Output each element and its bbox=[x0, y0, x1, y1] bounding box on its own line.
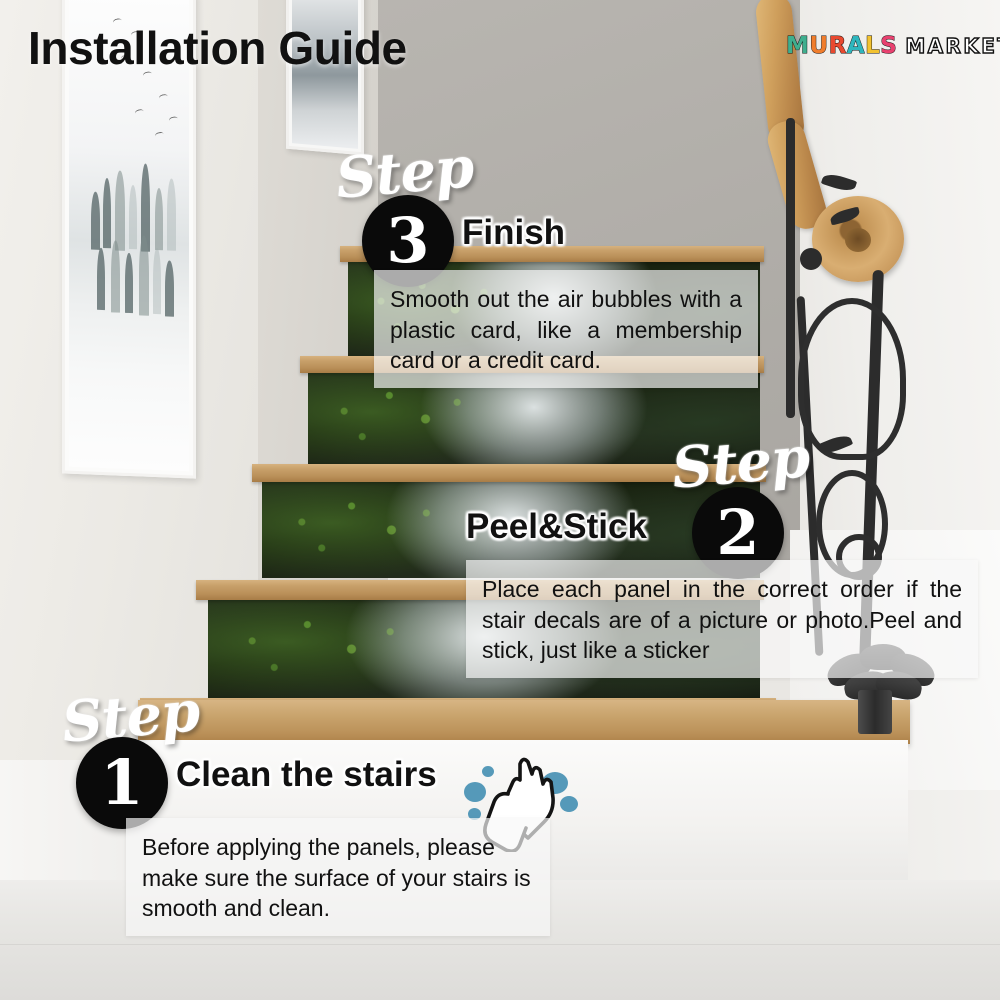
iron-baluster bbox=[786, 118, 795, 418]
step-1-title: Clean the stairs bbox=[176, 755, 437, 795]
logo-letter-u: U bbox=[809, 33, 828, 59]
iron-scroll-ornament bbox=[798, 298, 906, 460]
logo-letter-r: R bbox=[829, 33, 847, 59]
bird-icon bbox=[158, 93, 168, 101]
brand-logo[interactable]: M U R A L S MARKET bbox=[786, 33, 1000, 59]
step-1-number: 1 bbox=[100, 752, 143, 814]
logo-murals-word: M U R A L S bbox=[786, 33, 897, 59]
step-2-number: 2 bbox=[716, 502, 759, 564]
newel-post-cap bbox=[858, 690, 892, 734]
page-title: Installation Guide bbox=[28, 21, 407, 75]
logo-market-word: MARKET bbox=[905, 34, 1000, 58]
bird-icon bbox=[154, 131, 164, 139]
bird-icon bbox=[168, 116, 178, 124]
handrail-volute-core bbox=[845, 228, 871, 252]
iron-collar bbox=[800, 248, 822, 270]
floor-seam bbox=[0, 944, 1000, 945]
installation-guide-infographic: Installation Guide M U R A L S MARKET St… bbox=[0, 0, 1000, 1000]
logo-letter-s: S bbox=[880, 33, 897, 59]
step-2-description: Place each panel in the correct order if… bbox=[466, 560, 978, 678]
step-3-title: Finish bbox=[462, 213, 565, 253]
logo-letter-l: L bbox=[865, 33, 880, 59]
step-1-badge: 1 bbox=[76, 737, 168, 829]
bird-icon bbox=[134, 108, 144, 116]
logo-letter-m: M bbox=[786, 33, 809, 59]
step-2-title: Peel&Stick bbox=[466, 507, 647, 547]
step-3-number: 3 bbox=[386, 210, 429, 272]
step-1-description: Before applying the panels, please make … bbox=[126, 818, 550, 936]
bottom-step-tread bbox=[138, 700, 910, 744]
step-3-description: Smooth out the air bubbles with a plasti… bbox=[374, 270, 758, 388]
logo-letter-a: A bbox=[847, 33, 865, 59]
